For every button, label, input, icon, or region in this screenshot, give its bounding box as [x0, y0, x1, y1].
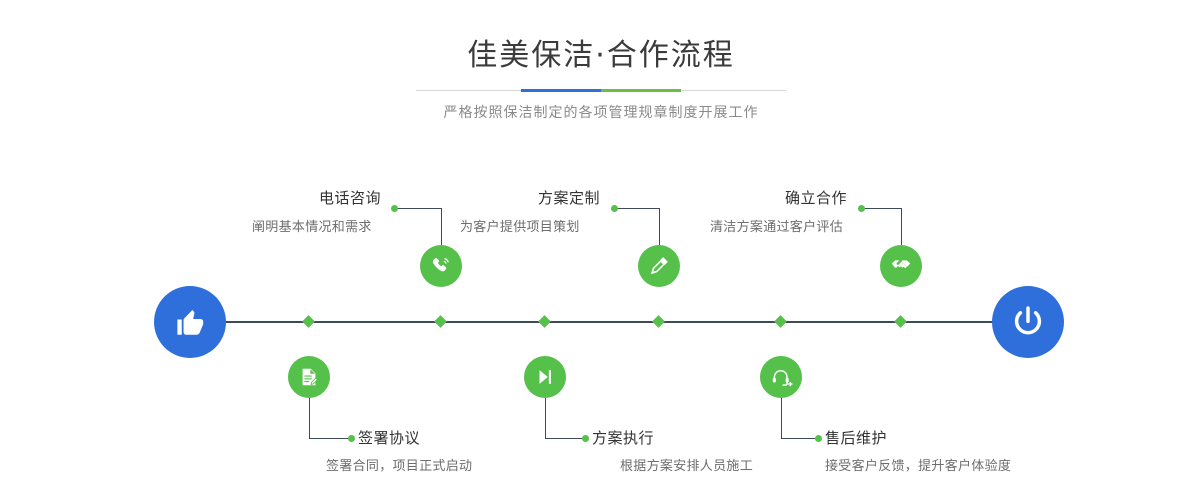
step-icon-3	[638, 245, 680, 287]
axis-marker-2	[302, 315, 315, 328]
axis-marker-3	[652, 315, 665, 328]
connector-hline-5	[862, 208, 901, 209]
axis-marker-4	[538, 315, 551, 328]
step-title-4: 方案执行	[592, 427, 654, 448]
step-title-5: 确立合作	[785, 187, 847, 208]
connector-dot-3	[611, 205, 618, 212]
axis-marker-5	[894, 315, 907, 328]
connector-hline-1	[395, 208, 441, 209]
divider-blue-segment	[521, 89, 601, 92]
play-skip-icon	[534, 366, 556, 388]
power-icon	[1009, 303, 1047, 341]
step-desc-2: 签署合同，项目正式启动	[326, 455, 472, 474]
page-title: 佳美保洁·合作流程	[0, 36, 1202, 76]
flowchart-page: 佳美保洁·合作流程 严格按照保洁制定的各项管理规章制度开展工作	[0, 0, 1202, 502]
timeline-axis	[155, 321, 1047, 323]
step-icon-5	[880, 245, 922, 287]
connector-hline-3	[615, 208, 659, 209]
connector-vline-2	[309, 398, 310, 438]
handshake-icon	[889, 254, 913, 278]
step-icon-4	[524, 356, 566, 398]
document-edit-icon	[298, 366, 320, 388]
connector-dot-1	[391, 205, 398, 212]
step-desc-3: 为客户提供项目策划	[460, 216, 580, 235]
step-desc-6: 接受客户反馈，提升客户体验度	[825, 455, 1011, 474]
step-desc-5: 清洁方案通过客户评估	[710, 216, 843, 235]
step-title-3: 方案定制	[538, 187, 600, 208]
connector-dot-5	[858, 205, 865, 212]
start-endpoint	[154, 286, 226, 358]
pencil-ruler-icon	[648, 255, 670, 277]
process-timeline: 电话咨询 阐明基本情况和需求 签署协议 签署合同，项目正式启动	[0, 150, 1202, 502]
connector-hline-2	[309, 438, 351, 439]
connector-hline-4	[545, 438, 585, 439]
connector-hline-6	[781, 438, 818, 439]
connector-dot-6	[815, 435, 822, 442]
connector-dot-4	[582, 435, 589, 442]
page-subtitle: 严格按照保洁制定的各项管理规章制度开展工作	[0, 102, 1202, 122]
axis-marker-6	[774, 315, 787, 328]
connector-vline-3	[659, 208, 660, 245]
thumbs-up-icon	[172, 304, 208, 340]
axis-marker-1	[434, 315, 447, 328]
connector-vline-6	[781, 398, 782, 438]
header: 佳美保洁·合作流程 严格按照保洁制定的各项管理规章制度开展工作	[0, 36, 1202, 122]
step-desc-4: 根据方案安排人员施工	[620, 455, 753, 474]
end-endpoint	[992, 286, 1064, 358]
phone-ring-icon	[430, 255, 452, 277]
connector-vline-5	[901, 208, 902, 245]
title-divider	[416, 89, 786, 92]
step-icon-2	[288, 356, 330, 398]
step-title-6: 售后维护	[825, 427, 887, 448]
connector-vline-1	[441, 208, 442, 245]
connector-vline-4	[545, 398, 546, 438]
step-icon-6	[760, 356, 802, 398]
connector-dot-2	[348, 435, 355, 442]
divider-green-segment	[601, 89, 681, 92]
headset-support-icon	[770, 366, 793, 389]
step-title-1: 电话咨询	[319, 187, 381, 208]
step-title-2: 签署协议	[358, 427, 420, 448]
step-icon-1	[420, 245, 462, 287]
step-desc-1: 阐明基本情况和需求	[252, 216, 372, 235]
